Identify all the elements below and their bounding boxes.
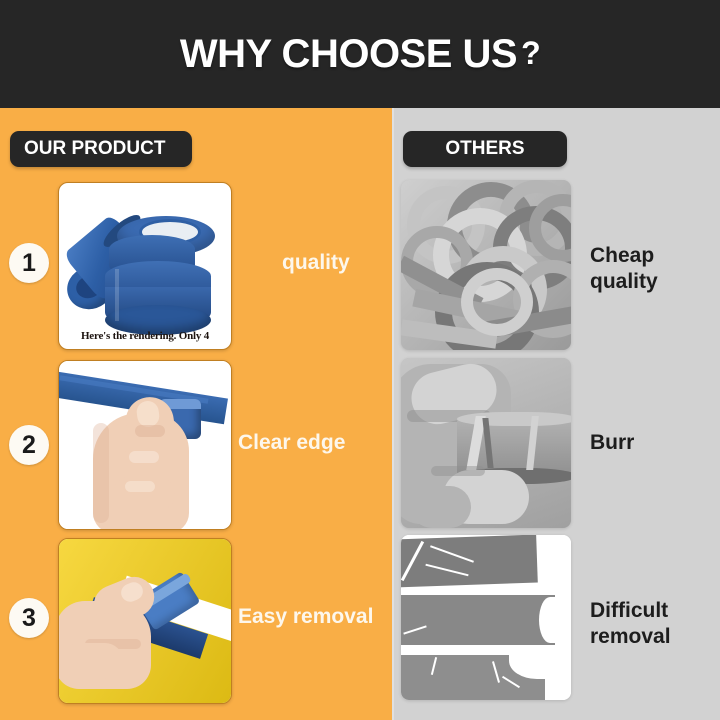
torn-gray-tape-residue-photo (401, 535, 571, 700)
others-label-1-line2: quality (590, 269, 658, 295)
pile-ring-front (461, 268, 533, 336)
step-number-3: 3 (22, 604, 36, 633)
page-title: WHY CHOOSE US? (180, 32, 540, 77)
step-number-badge-2: 2 (9, 425, 49, 465)
others-badge: OTHERS (403, 131, 567, 167)
lower-finger (61, 643, 123, 679)
product-image-card-1: Here's the rendering. Only 4 (58, 182, 232, 350)
product-label-3: Easy removal (238, 605, 373, 629)
others-label-1: Cheap quality (590, 243, 658, 296)
hand-shadow-edge (93, 423, 109, 523)
product-label-2: Clear edge (238, 431, 345, 455)
others-badge-label: OTHERS (445, 138, 524, 160)
others-label-2-line1: Burr (590, 430, 634, 456)
finger-shadow (431, 466, 485, 476)
others-label-3: Difficult removal (590, 598, 671, 651)
step-number-1: 1 (22, 249, 36, 278)
index-fingernail-shadow (135, 425, 165, 437)
page-title-text: WHY CHOOSE US (180, 32, 517, 76)
ring-fingernail (125, 481, 155, 492)
others-image-card-1 (401, 180, 571, 350)
product-label-1: quality (282, 251, 350, 275)
others-label-1-line1: Cheap (590, 243, 658, 269)
middle-fingernail (129, 451, 159, 463)
others-label-2: Burr (590, 430, 634, 456)
step-number-2: 2 (22, 431, 36, 460)
little-finger (111, 503, 173, 530)
page-title-question-mark: ? (517, 35, 540, 71)
product-image-card-2 (58, 360, 232, 530)
hand-holding-blue-tape-photo (59, 361, 231, 529)
others-image-card-2 (401, 358, 571, 528)
peeling-blue-tape-from-yellow-wall-photo (59, 539, 231, 703)
others-label-3-line2: removal (590, 624, 671, 650)
step-number-badge-1: 1 (9, 243, 49, 283)
gray-tape-rolls-pile-photo (401, 180, 571, 350)
step-number-badge-3: 3 (9, 598, 49, 638)
others-label-3-line1: Difficult (590, 598, 671, 624)
blue-tape-rolls-stack-photo (59, 183, 231, 349)
why-choose-us-infographic: WHY CHOOSE US? OUR PRODUCT OTHERS 1 (0, 0, 720, 720)
tape-highlight (115, 269, 119, 321)
page-header: WHY CHOOSE US? (0, 0, 720, 108)
lower-finger (411, 486, 471, 528)
product-image-caption-1: Here's the rendering. Only 4 (59, 330, 231, 342)
our-product-badge-label: OUR PRODUCT (24, 138, 165, 160)
tape-band-2-bite (539, 597, 561, 643)
hand-holding-gray-tape-burr-photo (401, 358, 571, 528)
our-product-badge: OUR PRODUCT (10, 131, 192, 167)
tape-band-2 (401, 595, 555, 645)
others-image-card-3 (401, 535, 571, 700)
product-image-card-3 (58, 538, 232, 704)
